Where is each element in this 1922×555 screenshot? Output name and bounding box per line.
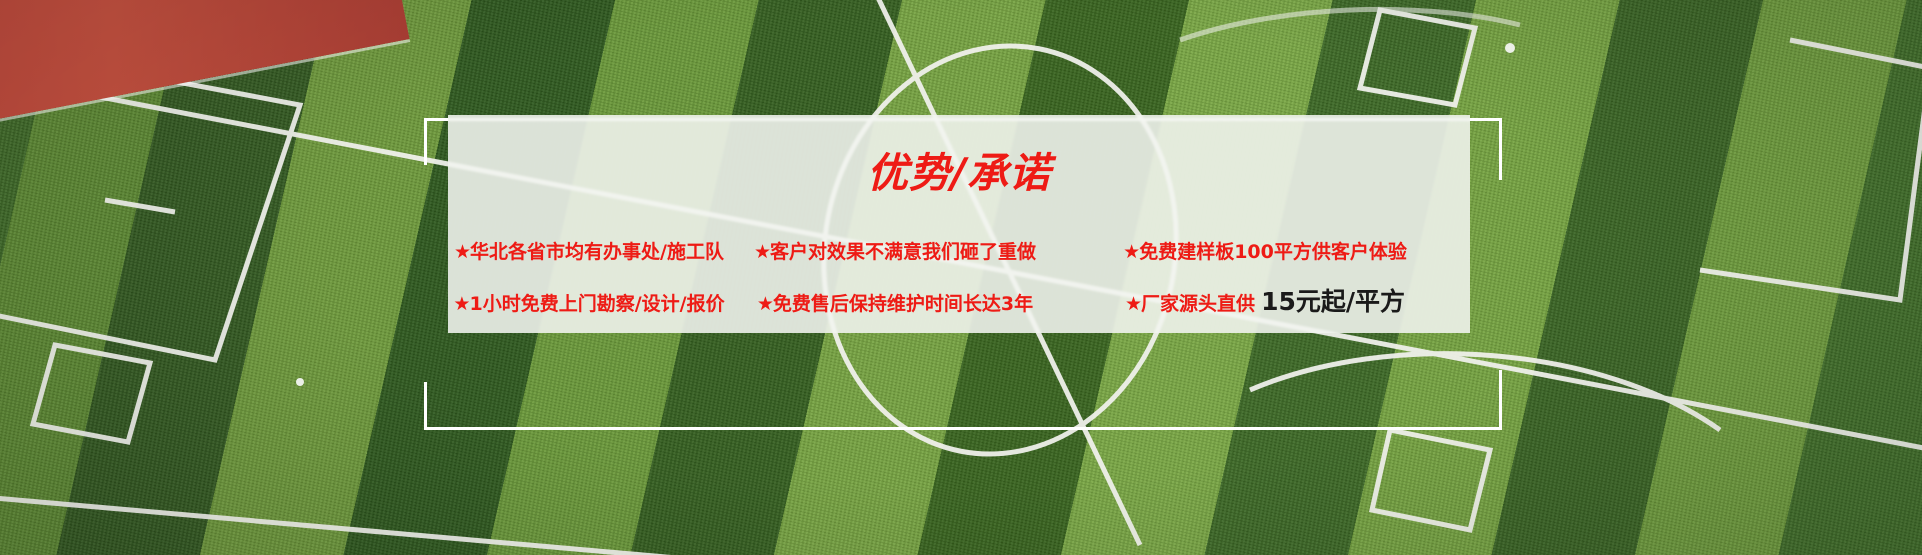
frame-top-left-vertical bbox=[424, 118, 427, 165]
benefit-item: ★免费售后保持维护时间长达3年 bbox=[730, 279, 1060, 329]
benefit-text: 免费售后保持维护时间长达3年 bbox=[773, 293, 1033, 315]
benefit-text: 厂家源头直供 bbox=[1141, 293, 1255, 315]
page-title: 优势/承诺 bbox=[448, 153, 1470, 194]
content-panel: 优势/承诺 ★华北各省市均有办事处/施工队 ★客户对效果不满意我们砸了重做 ★免… bbox=[448, 115, 1470, 333]
frame-bottom-left-vertical bbox=[424, 382, 427, 430]
benefit-text: 免费建样板100平方供客户体验 bbox=[1139, 241, 1407, 263]
frame-bottom-right-vertical bbox=[1499, 370, 1502, 430]
benefit-item: ★客户对效果不满意我们砸了重做 bbox=[730, 227, 1060, 277]
star-icon: ★ bbox=[1125, 293, 1141, 315]
benefit-text: 1小时免费上门勘察/设计/报价 bbox=[469, 293, 724, 315]
benefits-row: ★1小时免费上门勘察/设计/报价 ★免费售后保持维护时间长达3年 ★厂家源头直供… bbox=[448, 277, 1470, 327]
price-label: 15元起/平方 bbox=[1261, 287, 1405, 316]
promo-banner: 优势/承诺 ★华北各省市均有办事处/施工队 ★客户对效果不满意我们砸了重做 ★免… bbox=[0, 0, 1922, 555]
benefit-text: 华北各省市均有办事处/施工队 bbox=[470, 241, 724, 263]
benefit-item: ★免费建样板100平方供客户体验 bbox=[1060, 227, 1470, 277]
star-icon: ★ bbox=[757, 293, 773, 315]
benefits-list: ★华北各省市均有办事处/施工队 ★客户对效果不满意我们砸了重做 ★免费建样板10… bbox=[448, 227, 1470, 327]
frame-bottom-horizontal bbox=[424, 427, 1502, 430]
star-icon: ★ bbox=[754, 241, 770, 263]
benefit-item-price: ★厂家源头直供15元起/平方 bbox=[1060, 277, 1470, 329]
frame-top-right-vertical bbox=[1499, 118, 1502, 180]
benefit-item: ★1小时免费上门勘察/设计/报价 bbox=[448, 279, 730, 329]
star-icon: ★ bbox=[1123, 241, 1139, 263]
benefit-text: 客户对效果不满意我们砸了重做 bbox=[770, 241, 1036, 263]
benefits-row: ★华北各省市均有办事处/施工队 ★客户对效果不满意我们砸了重做 ★免费建样板10… bbox=[448, 227, 1470, 277]
star-icon: ★ bbox=[454, 241, 470, 263]
benefit-item: ★华北各省市均有办事处/施工队 bbox=[448, 227, 730, 277]
star-icon: ★ bbox=[453, 293, 469, 315]
